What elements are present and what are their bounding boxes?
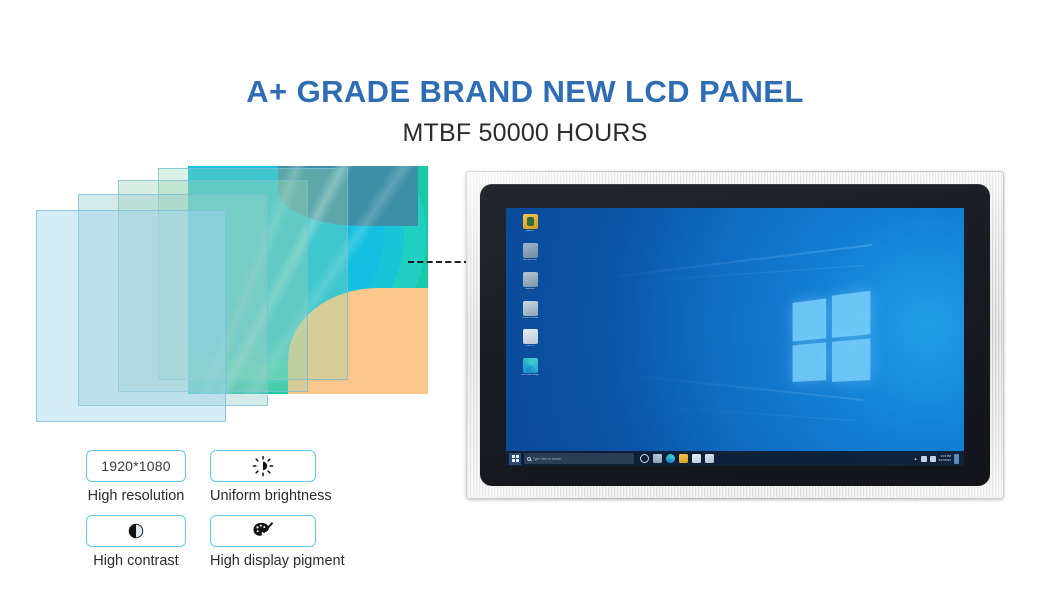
feature-high-contrast[interactable]: High contrast (86, 515, 186, 569)
panel-layer-sheet (36, 210, 226, 422)
industrial-panel-pc: Admin Recycle Bin Network Control Panel (466, 171, 1004, 499)
brightness-badge (210, 450, 316, 482)
user-folder-icon (523, 214, 538, 229)
page-subtitle: MTBF 50000 HOURS (0, 119, 1050, 148)
recycle-bin-icon (523, 243, 538, 258)
inner-black-bezel: Admin Recycle Bin Network Control Panel (480, 184, 990, 486)
windows-taskbar: Type here to search ▲ (506, 451, 964, 466)
mail-icon[interactable] (705, 454, 714, 463)
contrast-badge (86, 515, 186, 547)
feature-badge-group: 1920*1080 High resolution (86, 450, 386, 569)
network-icon (523, 272, 538, 287)
task-view-icon[interactable] (653, 454, 662, 463)
desktop-wallpaper (506, 208, 964, 466)
show-desktop-button[interactable] (954, 454, 959, 464)
feature-high-display-pigment[interactable]: High display pigment (210, 515, 316, 569)
network-icon[interactable] (930, 456, 936, 462)
desktop-icon-user-folder[interactable]: Admin (513, 214, 547, 233)
feature-label: High contrast (86, 553, 186, 569)
search-icon (527, 457, 531, 461)
page-title: A+ GRADE BRAND NEW LCD PANEL (0, 74, 1050, 110)
microsoft-edge-icon (523, 358, 538, 373)
connector-dashed-line (408, 261, 470, 263)
desktop-icon-label: This PC (513, 345, 547, 348)
feature-uniform-brightness[interactable]: Uniform brightness (210, 450, 316, 504)
desktop-icon-this-pc[interactable]: This PC (513, 329, 547, 348)
volume-icon[interactable] (921, 456, 927, 462)
taskbar-pinned-icons (640, 454, 714, 463)
feature-label: High resolution (86, 488, 186, 504)
desktop-icon-recycle-bin[interactable]: Recycle Bin (513, 243, 547, 262)
windows-logo-icon (793, 290, 871, 383)
chevron-up-icon[interactable]: ▲ (914, 457, 918, 461)
resolution-value: 1920*1080 (101, 458, 171, 474)
control-panel-icon (523, 301, 538, 316)
desktop-icon-label: Recycle Bin (513, 259, 547, 262)
feature-row-bottom: High contrast High display pigment (86, 515, 386, 569)
desktop-icon-microsoft-edge[interactable]: Microsoft Edge (513, 358, 547, 377)
system-tray: ▲ 3:15 PM 4/27/2021 (914, 454, 961, 464)
file-explorer-icon (523, 329, 538, 344)
desktop-icon-column: Admin Recycle Bin Network Control Panel (513, 214, 547, 387)
feature-high-resolution[interactable]: 1920*1080 High resolution (86, 450, 186, 504)
taskbar-clock[interactable]: 3:15 PM 4/27/2021 (939, 455, 951, 461)
poster-canvas: A+ GRADE BRAND NEW LCD PANEL MTBF 50000 … (0, 0, 1050, 600)
desktop-icon-label: Microsoft Edge (513, 374, 547, 377)
feature-row-top: 1920*1080 High resolution (86, 450, 386, 504)
microsoft-store-icon[interactable] (692, 454, 701, 463)
brightness-sun-icon (252, 455, 274, 477)
desktop-icon-label: Admin (513, 230, 547, 233)
microsoft-edge-icon[interactable] (666, 454, 675, 463)
desktop-icon-label: Control Panel (513, 317, 547, 320)
search-placeholder: Type here to search (533, 457, 561, 461)
file-explorer-icon[interactable] (679, 454, 688, 463)
color-palette-icon (251, 520, 275, 542)
feature-label: Uniform brightness (210, 488, 316, 504)
desktop-icon-label: Network (513, 288, 547, 291)
cortana-icon[interactable] (640, 454, 649, 463)
feature-label: High display pigment (210, 553, 316, 569)
lcd-layer-stack-graphic (18, 158, 438, 438)
contrast-half-circle-icon (125, 520, 147, 542)
desktop-icon-network[interactable]: Network (513, 272, 547, 291)
start-button[interactable] (509, 453, 521, 465)
resolution-badge: 1920*1080 (86, 450, 186, 482)
clock-date: 4/27/2021 (939, 458, 951, 462)
pigment-badge (210, 515, 316, 547)
desktop-icon-control-panel[interactable]: Control Panel (513, 301, 547, 320)
search-input[interactable]: Type here to search (524, 453, 634, 464)
lcd-screen[interactable]: Admin Recycle Bin Network Control Panel (506, 208, 964, 466)
